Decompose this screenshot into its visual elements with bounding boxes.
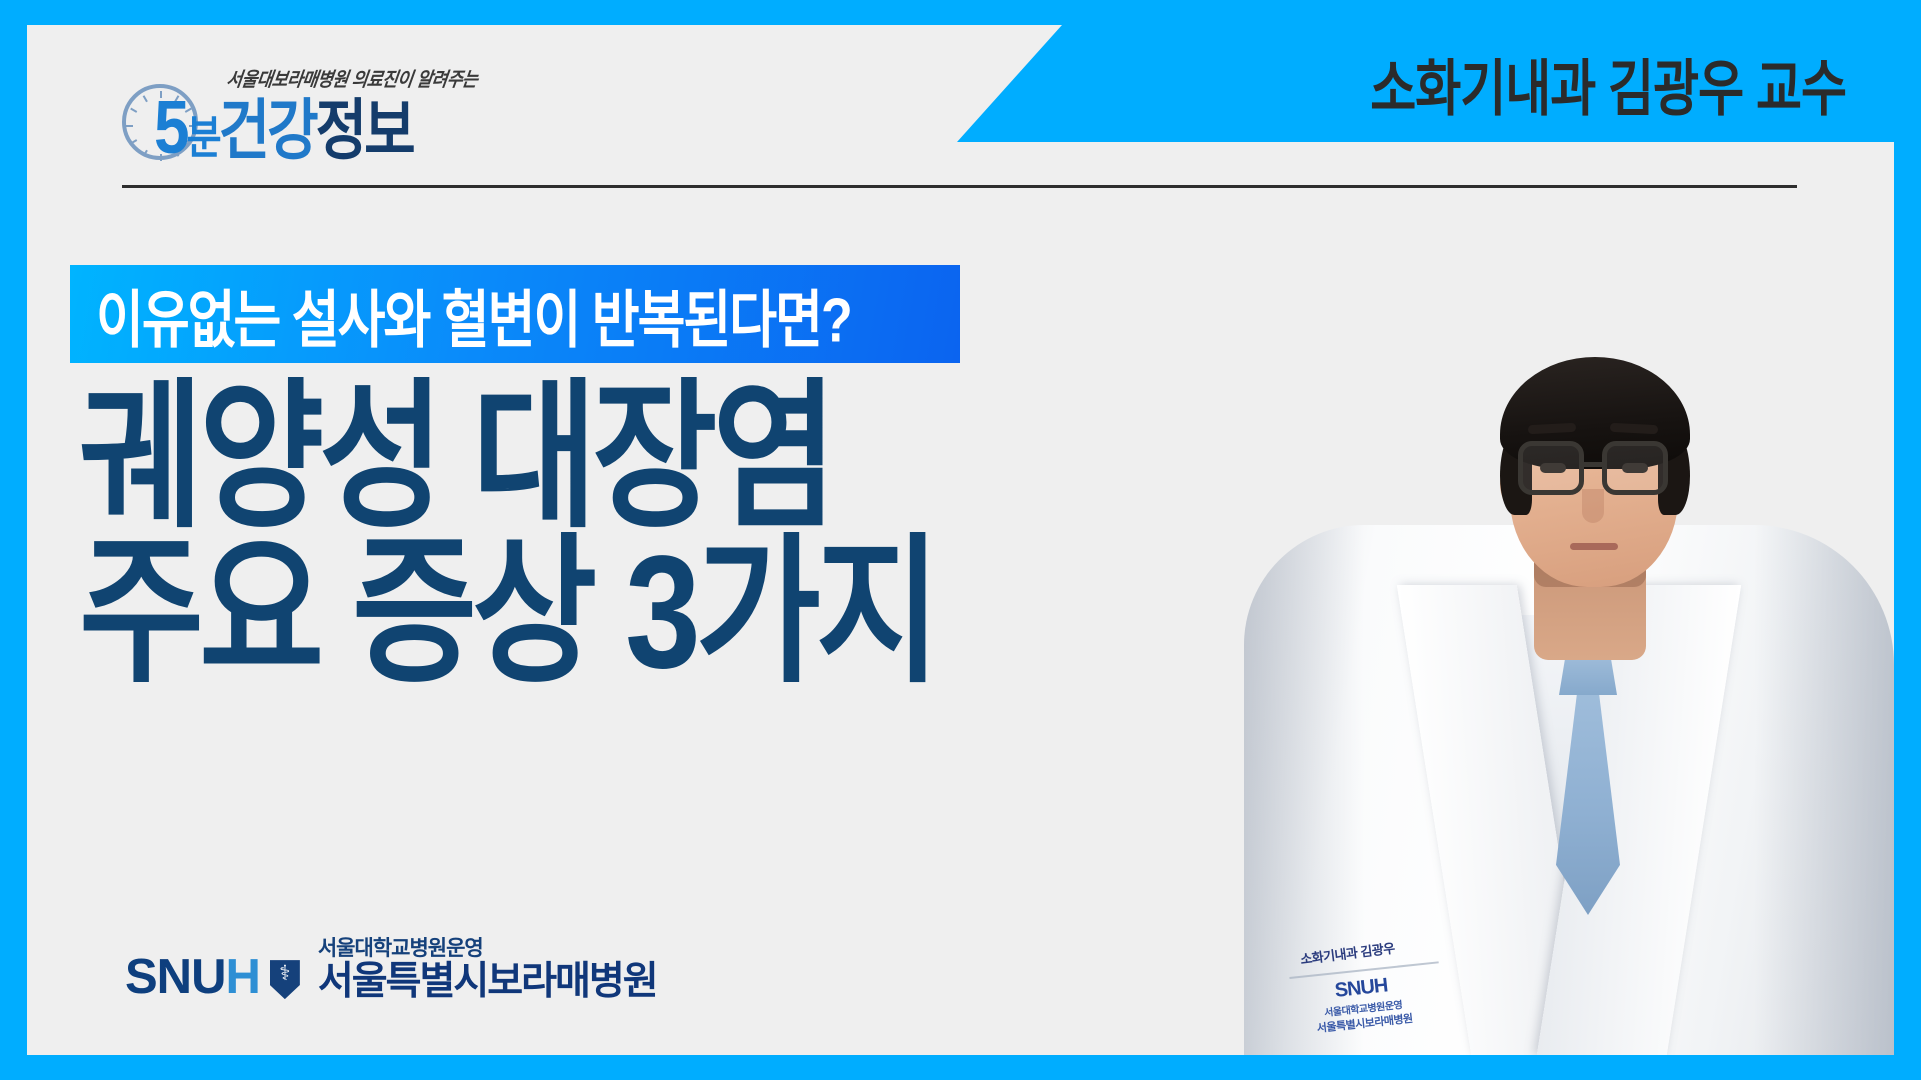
subtitle-text: 이유없는 설사와 혈변이 반복된다면? (70, 269, 851, 359)
nose (1582, 489, 1604, 523)
program-logo: 서울대보라매병원 의료진이 알려주는 5분건강정보 (122, 67, 482, 159)
title-line-2: 주요 증상 3가지 (79, 535, 1009, 689)
coat-logo-embroidery: SNUH 서울대학교병원운영 서울특별시보라매병원 (1300, 971, 1427, 1055)
snuh-operator-line: 서울대학교병원운영 (318, 937, 657, 960)
snuh-hospital-logo: SNUH ⚕ 서울대학교병원운영 서울특별시보라매병원 (125, 937, 657, 1002)
snuh-name-block: 서울대학교병원운영 서울특별시보라매병원 (318, 937, 657, 1001)
glasses-lens-left (1518, 441, 1584, 495)
shield-icon: ⚕ (270, 960, 300, 999)
logo-health-word: 건강 (219, 93, 316, 167)
subtitle-highlight-bar: 이유없는 설사와 혈변이 반복된다면? (70, 265, 960, 363)
title-line-1: 궤양성 대장염 (79, 380, 1009, 534)
mouth (1570, 543, 1618, 550)
coat-shadow-right (1754, 525, 1894, 1055)
shield-glyph: ⚕ (270, 961, 300, 986)
snuh-hospital-name: 서울특별시보라매병원 (318, 962, 657, 1001)
content-panel: 서울대보라매병원 의료진이 알려주는 5분건강정보 소화기내과 김광우 교수 (27, 25, 1894, 1055)
logo-wordmark: 5분건강정보 (154, 78, 413, 174)
glasses-lens-right (1602, 441, 1668, 495)
glasses-bridge (1584, 462, 1602, 467)
logo-five: 5 (154, 85, 187, 170)
doctor-portrait: 소화기내과 김광우 SNUH 서울대학교병원운영 서울특별시보라매병원 (1104, 50, 1894, 1055)
logo-info-word: 정보 (316, 93, 413, 167)
snuh-wordmark: SNUH (125, 953, 260, 1002)
logo-minute: 분 (187, 114, 219, 164)
page-title: 궤양성 대장염 주요 증상 3가지 (79, 380, 1009, 689)
snuh-wordmark-snu: SNU (125, 950, 225, 1004)
snuh-wordmark-h: H (225, 950, 259, 1004)
health-info-card: 서울대보라매병원 의료진이 알려주는 5분건강정보 소화기내과 김광우 교수 (0, 0, 1921, 1080)
